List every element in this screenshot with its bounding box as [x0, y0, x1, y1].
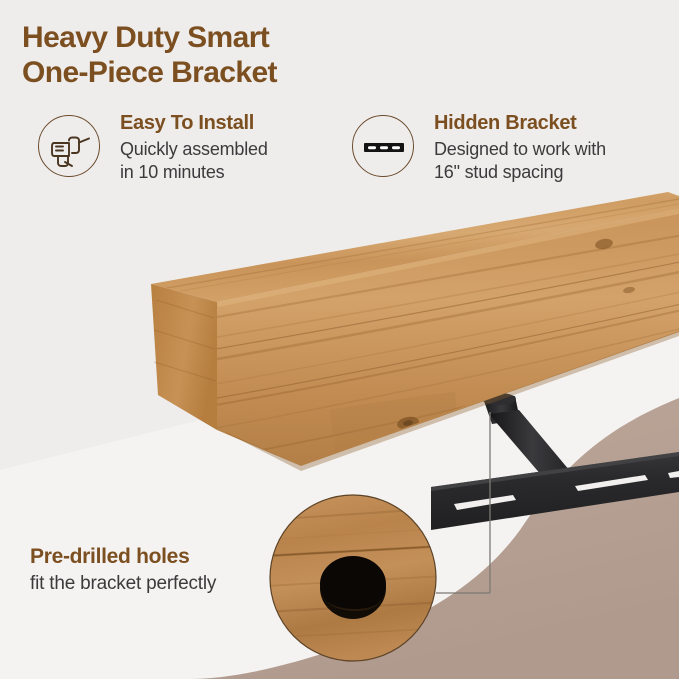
feature-title: Easy To Install: [120, 112, 268, 135]
feature-description: Designed to work with 16" stud spacing: [434, 138, 606, 184]
feature-easy-to-install: Easy To Install Quickly assembled in 10 …: [38, 110, 338, 184]
drill-icon: [38, 115, 100, 177]
feature-desc-line-1: Quickly assembled: [120, 138, 268, 161]
headline-line-2: One-Piece Bracket: [22, 55, 442, 90]
callout-description: fit the bracket perfectly: [30, 573, 330, 595]
feature-desc-line-2: 16" stud spacing: [434, 161, 606, 184]
page-title: Heavy Duty Smart One-Piece Bracket: [22, 20, 442, 91]
headline-line-1: Heavy Duty Smart: [22, 20, 442, 55]
callout-pre-drilled-holes: Pre-drilled holes fit the bracket perfec…: [30, 545, 330, 595]
feature-text: Hidden Bracket Designed to work with 16"…: [434, 110, 606, 184]
product-feature-image: Heavy Duty Smart One-Piece Bracket Easy …: [0, 0, 679, 679]
feature-description: Quickly assembled in 10 minutes: [120, 138, 268, 184]
feature-title: Hidden Bracket: [434, 112, 606, 135]
feature-desc-line-2: in 10 minutes: [120, 161, 268, 184]
feature-desc-line-1: Designed to work with: [434, 138, 606, 161]
callout-title: Pre-drilled holes: [30, 545, 330, 569]
feature-hidden-bracket: Hidden Bracket Designed to work with 16"…: [352, 110, 672, 184]
feature-text: Easy To Install Quickly assembled in 10 …: [120, 110, 268, 184]
bracket-bar-icon: [352, 115, 414, 177]
